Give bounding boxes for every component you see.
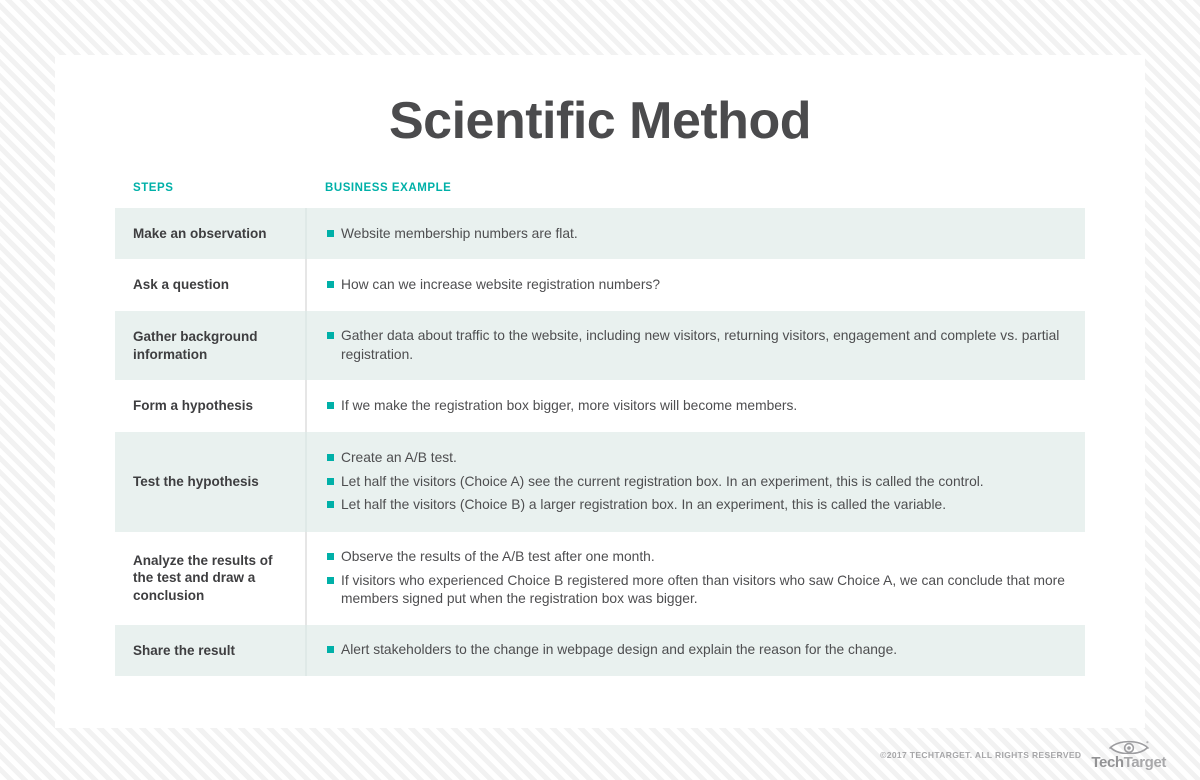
table-row: Gather background informationGather data… xyxy=(115,311,1085,381)
step-label: Make an observation xyxy=(115,208,305,259)
square-bullet-icon xyxy=(327,646,334,653)
step-label: Gather background information xyxy=(115,311,305,381)
square-bullet-icon xyxy=(327,501,334,508)
bullet-item: If we make the registration box bigger, … xyxy=(327,394,1069,417)
bullet-text: How can we increase website registration… xyxy=(341,276,1069,294)
step-label: Test the hypothesis xyxy=(115,432,305,532)
eye-icon xyxy=(1108,739,1150,754)
step-label: Ask a question xyxy=(115,259,305,310)
square-bullet-icon xyxy=(327,553,334,560)
bullet-item: Create an A/B test. xyxy=(327,447,1069,470)
business-example-cell: If we make the registration box bigger, … xyxy=(305,380,1085,431)
bullet-text: Let half the visitors (Choice A) see the… xyxy=(341,473,1069,491)
page-title: Scientific Method xyxy=(55,55,1145,150)
bullet-text: Website membership numbers are flat. xyxy=(341,225,1069,243)
column-header-steps: STEPS xyxy=(115,179,305,194)
bullet-text: If visitors who experienced Choice B reg… xyxy=(341,572,1069,609)
techtarget-wordmark: TechTarget xyxy=(1091,755,1166,770)
bullet-item: Let half the visitors (Choice A) see the… xyxy=(327,470,1069,493)
step-label: Form a hypothesis xyxy=(115,380,305,431)
bullet-item: If visitors who experienced Choice B reg… xyxy=(327,569,1069,611)
bullet-item: Alert stakeholders to the change in webp… xyxy=(327,639,1069,662)
square-bullet-icon xyxy=(327,454,334,461)
table-row: Test the hypothesisCreate an A/B test.Le… xyxy=(115,432,1085,532)
table-row: Form a hypothesisIf we make the registra… xyxy=(115,380,1085,431)
bullet-text: Observe the results of the A/B test afte… xyxy=(341,548,1069,566)
bullet-text: If we make the registration box bigger, … xyxy=(341,397,1069,415)
business-example-cell: Gather data about traffic to the website… xyxy=(305,311,1085,381)
table-row: Share the resultAlert stakeholders to th… xyxy=(115,625,1085,676)
square-bullet-icon xyxy=(327,230,334,237)
table-row: Analyze the results of the test and draw… xyxy=(115,532,1085,625)
table-row: Make an observationWebsite membership nu… xyxy=(115,207,1085,259)
bullet-item: Let half the visitors (Choice B) a large… xyxy=(327,493,1069,516)
techtarget-logo: TechTarget xyxy=(1091,739,1166,770)
column-header-business-example: BUSINESS EXAMPLE xyxy=(305,179,1085,194)
business-example-cell: How can we increase website registration… xyxy=(305,259,1085,310)
business-example-cell: Create an A/B test.Let half the visitors… xyxy=(305,432,1085,532)
bullet-item: Observe the results of the A/B test afte… xyxy=(327,546,1069,569)
table-row: Ask a questionHow can we increase websit… xyxy=(115,259,1085,310)
square-bullet-icon xyxy=(327,478,334,485)
bullet-text: Create an A/B test. xyxy=(341,449,1069,467)
step-label: Analyze the results of the test and draw… xyxy=(115,532,305,625)
bullet-item: How can we increase website registration… xyxy=(327,273,1069,296)
square-bullet-icon xyxy=(327,332,334,339)
business-example-cell: Website membership numbers are flat. xyxy=(305,208,1085,259)
square-bullet-icon xyxy=(327,402,334,409)
table-header-row: STEPS BUSINESS EXAMPLE xyxy=(115,179,1085,207)
logo-word-target: Target xyxy=(1124,754,1166,771)
infographic-card: Scientific Method STEPS BUSINESS EXAMPLE… xyxy=(55,55,1145,728)
copyright-text: ©2017 TECHTARGET. ALL RIGHTS RESERVED xyxy=(880,750,1081,760)
business-example-cell: Observe the results of the A/B test afte… xyxy=(305,532,1085,625)
scientific-method-table: STEPS BUSINESS EXAMPLE Make an observati… xyxy=(115,179,1085,676)
square-bullet-icon xyxy=(327,577,334,584)
footer: ©2017 TECHTARGET. ALL RIGHTS RESERVED Te… xyxy=(880,739,1166,770)
table-body: Make an observationWebsite membership nu… xyxy=(115,207,1085,676)
bullet-text: Gather data about traffic to the website… xyxy=(341,327,1069,364)
bullet-text: Alert stakeholders to the change in webp… xyxy=(341,641,1069,659)
bullet-item: Website membership numbers are flat. xyxy=(327,222,1069,245)
step-label: Share the result xyxy=(115,625,305,676)
bullet-text: Let half the visitors (Choice B) a large… xyxy=(341,496,1069,514)
business-example-cell: Alert stakeholders to the change in webp… xyxy=(305,625,1085,676)
square-bullet-icon xyxy=(327,281,334,288)
bullet-item: Gather data about traffic to the website… xyxy=(327,325,1069,367)
logo-word-tech: Tech xyxy=(1091,754,1123,771)
